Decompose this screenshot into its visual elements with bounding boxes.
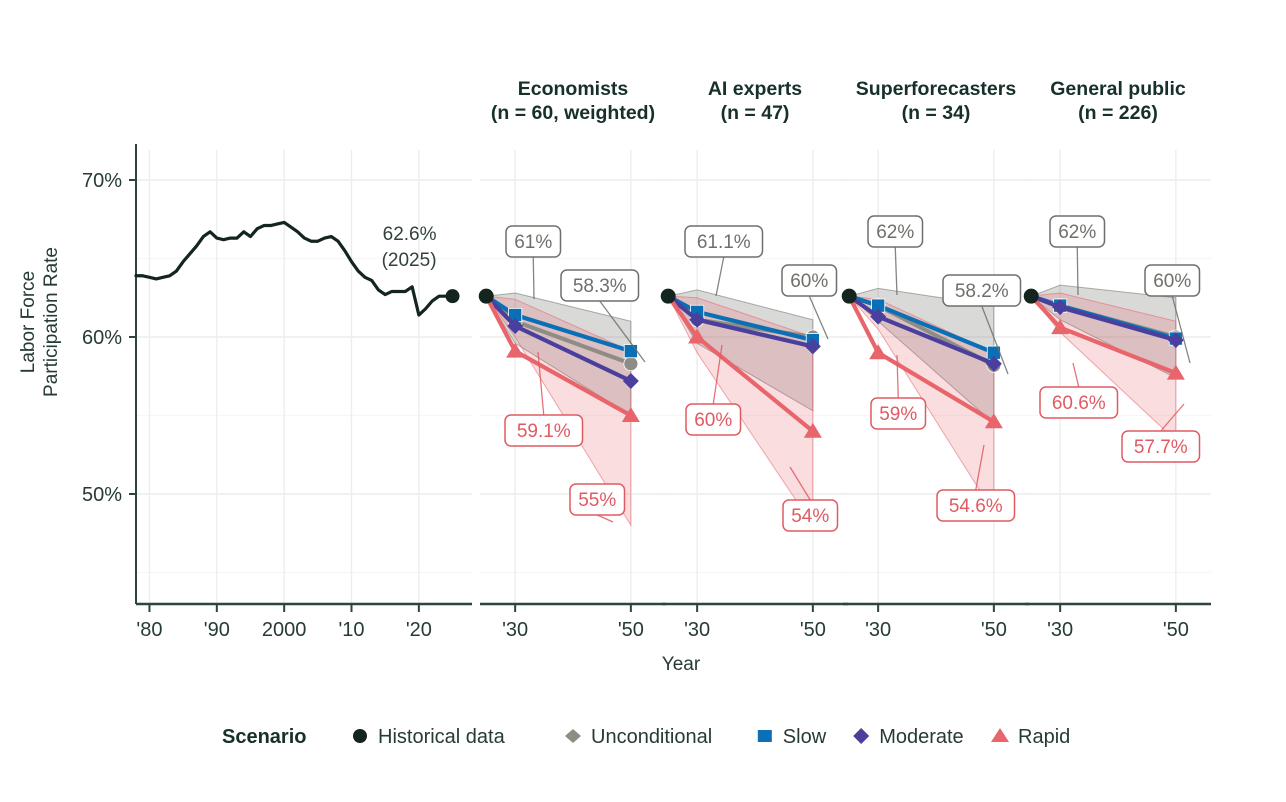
annotation-label: 59.1% xyxy=(517,421,571,442)
panel-title-3: Superforecasters xyxy=(856,78,1017,100)
legend-label-unconditional: Unconditional xyxy=(591,726,712,748)
x-axis-tick-label: '90 xyxy=(204,619,230,641)
legend-label-moderate: Moderate xyxy=(879,726,964,748)
panel-start-marker xyxy=(661,289,676,304)
legend-label-rapid: Rapid xyxy=(1018,726,1070,748)
annotation-leader-line xyxy=(1077,247,1078,295)
legend-label-historical-data: Historical data xyxy=(378,726,506,748)
legend-marker-slow xyxy=(758,730,772,742)
series-marker-slow-2050 xyxy=(624,345,637,358)
panel-start-marker xyxy=(1024,289,1039,304)
panel-title-1: Economists xyxy=(518,78,629,100)
labor-force-participation-chart: 70%60%50%Labor ForceParticipation Rate'8… xyxy=(0,0,1286,802)
x-axis-title: Year xyxy=(662,654,701,675)
legend-title: Scenario xyxy=(222,726,306,748)
legend-label-slow: Slow xyxy=(783,726,827,748)
chart-figure: 70%60%50%Labor ForceParticipation Rate'8… xyxy=(0,0,1286,802)
annotation-label: 54.6% xyxy=(949,496,1003,517)
x-axis-tick-label: '50 xyxy=(618,619,644,641)
annotation-label: 54% xyxy=(791,506,829,527)
x-axis-tick-label: '30 xyxy=(865,619,891,641)
x-axis-tick-label: '30 xyxy=(684,619,710,641)
x-axis-tick-label: '50 xyxy=(981,619,1007,641)
annotation-label: 60.6% xyxy=(1052,393,1106,414)
annotation-label: 60% xyxy=(1153,271,1191,292)
annotation-label: 62% xyxy=(876,222,914,243)
annotation-label: 55% xyxy=(578,490,616,511)
historical-endpoint-marker xyxy=(446,289,460,303)
y-axis-tick-label: 50% xyxy=(82,484,122,506)
panel-subtitle-4: (n = 226) xyxy=(1078,102,1158,124)
x-axis-tick-label: '50 xyxy=(800,619,826,641)
annotation-label: 59% xyxy=(879,404,917,425)
annotation-label: 61% xyxy=(514,232,552,253)
y-axis-title: Participation Rate xyxy=(41,247,62,397)
x-axis-tick-label: '10 xyxy=(338,619,364,641)
x-axis-tick-label: '80 xyxy=(136,619,162,641)
annotation-label: 58.3% xyxy=(573,276,627,297)
panel-title-2: AI experts xyxy=(708,78,802,100)
legend-marker-historical-data xyxy=(353,729,367,743)
series-marker-unconditional-2050 xyxy=(624,357,638,371)
panel-subtitle-2: (n = 47) xyxy=(721,102,790,124)
x-axis-tick-label: '30 xyxy=(502,619,528,641)
annotation-label: 62% xyxy=(1058,222,1096,243)
annotation-label: 60% xyxy=(790,271,828,292)
annotation-leader-line xyxy=(533,257,534,299)
x-axis-tick-label: '30 xyxy=(1047,619,1073,641)
panel-subtitle-3: (n = 34) xyxy=(902,102,971,124)
x-axis-tick-label: '20 xyxy=(406,619,432,641)
x-axis-tick-label: '50 xyxy=(1163,619,1189,641)
panel-start-marker xyxy=(842,289,857,304)
panel-start-marker xyxy=(479,289,494,304)
annotation-label: 57.7% xyxy=(1134,437,1188,458)
historical-endpoint-label: (2025) xyxy=(382,250,437,271)
annotation-label: 61.1% xyxy=(697,232,751,253)
panel-title-4: General public xyxy=(1050,78,1186,100)
y-axis-title: Labor Force xyxy=(18,271,39,373)
panel-subtitle-1: (n = 60, weighted) xyxy=(491,102,655,124)
historical-endpoint-label: 62.6% xyxy=(383,224,437,245)
annotation-label: 60% xyxy=(694,410,732,431)
y-axis-tick-label: 70% xyxy=(82,170,122,192)
x-axis-tick-label: 2000 xyxy=(262,619,307,641)
annotation-label: 58.2% xyxy=(955,281,1009,302)
y-axis-tick-label: 60% xyxy=(82,327,122,349)
